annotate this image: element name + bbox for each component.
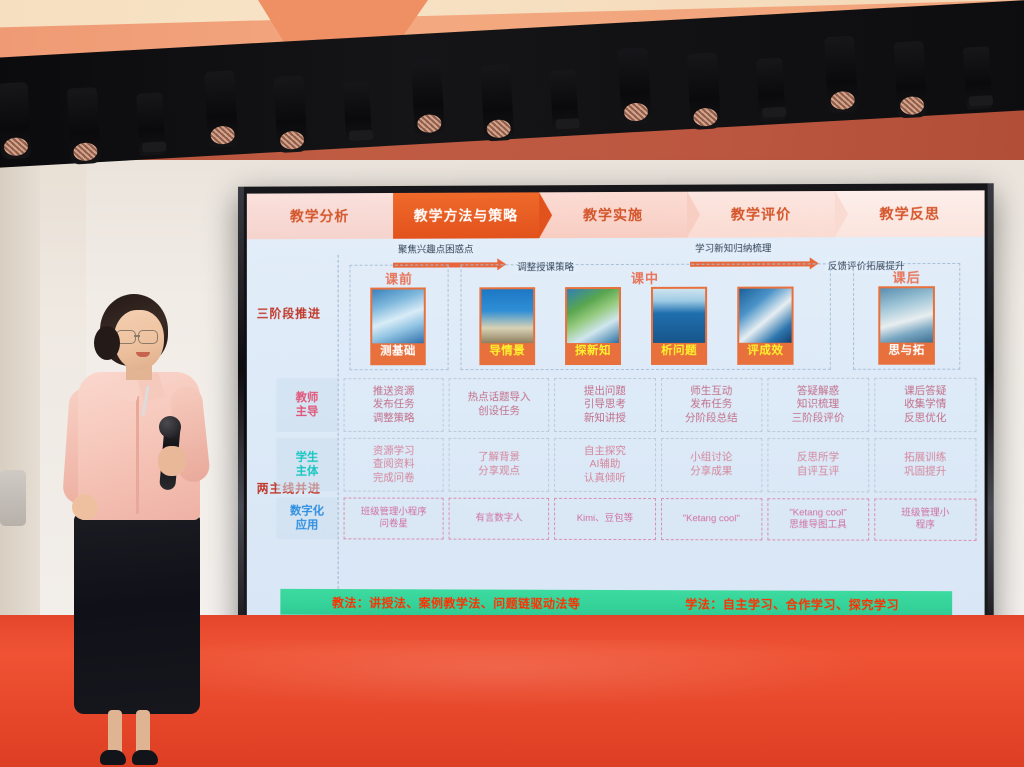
row-label-line: 数字化 — [290, 504, 324, 518]
cell-line: AI辅助 — [589, 458, 620, 472]
matrix-cell[interactable]: 班级管理小 程序 — [874, 498, 976, 540]
stage-card-ceji[interactable]: 测基础 — [370, 287, 425, 365]
cell-line: 自主探究 — [584, 445, 626, 459]
stage-light — [411, 59, 445, 137]
matrix-cell[interactable]: 资源学习 查阅资料 完成问卷 — [344, 438, 444, 492]
tab-label: 教学实施 — [583, 205, 643, 225]
row-label-digital: 数字化 应用 — [276, 497, 337, 539]
stage-scene: 教学分析 教学方法与策略 教学实施 教学评价 — [0, 0, 1024, 767]
cell-line: 师生互动 — [690, 384, 732, 398]
cell-line: 小组讨论 — [690, 451, 732, 465]
cell-line: Kimi、豆包等 — [577, 513, 633, 525]
stage-light — [894, 41, 928, 119]
stage-card-photo — [567, 289, 619, 343]
stage-light — [617, 47, 651, 125]
cell-line: 提出问题 — [584, 385, 626, 399]
cell-line: 巩固提升 — [904, 465, 947, 479]
cell-line: 分阶段总结 — [685, 412, 738, 426]
stage-card-photo — [372, 289, 424, 343]
row-cells: 推送资源 发布任务 调整策略 热点话题导入 创设任务 提出问题 — [338, 378, 977, 432]
learning-methods-text: 学法：自主学习、合作学习、探究学习 — [685, 595, 899, 613]
chair — [0, 470, 26, 526]
tab-teaching-methods[interactable]: 教学方法与策略 — [393, 192, 540, 238]
shoe-right — [132, 750, 158, 765]
row-label-line: 应用 — [296, 518, 319, 532]
stage-light — [550, 69, 579, 132]
matrix-cell[interactable]: 课后答疑 收集学情 反思优化 — [874, 378, 976, 432]
stage-light — [343, 81, 372, 144]
cell-line: "Ketang cool" — [789, 507, 846, 520]
bezel-right-highlight — [988, 183, 994, 646]
matrix-cell[interactable]: 自主探究 AI辅助 认真倾听 — [554, 438, 655, 492]
slide: 教学分析 教学方法与策略 教学实施 教学评价 — [247, 190, 985, 637]
row-cells: 班级管理小程序 问卷星 有言数字人 Kimi、豆包等 — [338, 498, 977, 541]
tab-teaching-reflection[interactable]: 教学反思 — [835, 190, 984, 237]
stage-card-caption: 导情景 — [481, 339, 533, 363]
stage-card-daoqingjing[interactable]: 导情景 — [479, 287, 535, 365]
shirt-placket — [136, 396, 139, 514]
cell-line: 有言数字人 — [475, 513, 522, 525]
projection-screen: 教学分析 教学方法与策略 教学实施 教学评价 — [247, 190, 985, 637]
stage-card-caption: 探新知 — [567, 339, 619, 363]
stage-card-photo — [481, 289, 533, 343]
tab-label: 教学评价 — [731, 204, 791, 224]
skirt — [74, 514, 200, 714]
stage-group-title: 课前 — [350, 268, 447, 287]
table-row: 数字化 应用 班级管理小程序 问卷星 有言数字人 — [276, 497, 976, 540]
cell-line: 答疑解惑 — [797, 384, 839, 398]
cell-line: 班级管理小程序 — [361, 506, 427, 518]
cell-line: 班级管理小 — [901, 507, 949, 520]
chevron-right-icon — [539, 192, 552, 238]
cell-line: 分享观点 — [478, 465, 520, 479]
row-label-teacher: 教师 主导 — [276, 378, 337, 432]
stage-card-photo — [739, 289, 791, 343]
stage-card-pingchengxiao[interactable]: 评成效 — [737, 287, 793, 365]
row-label-line: 主体 — [296, 465, 319, 479]
stage-light — [136, 92, 165, 155]
flow-label-above-1: 聚焦兴趣点困惑点 — [395, 240, 476, 256]
stage-card-photo — [653, 289, 705, 343]
matrix-cell[interactable]: 答疑解惑 知识梳理 三阶段评价 — [767, 378, 869, 432]
cell-line: 课后答疑 — [904, 384, 947, 398]
glasses-bridge-icon — [134, 335, 140, 337]
cell-line: 推送资源 — [373, 385, 415, 399]
matrix-cell[interactable]: 推送资源 发布任务 调整策略 — [344, 378, 444, 432]
stage-card-caption: 评成效 — [739, 339, 791, 363]
stage-card-caption: 测基础 — [372, 339, 424, 363]
stage-group-post: 课后 思与拓 — [853, 263, 960, 370]
cell-line: 反思优化 — [904, 412, 947, 426]
cell-line: 资源学习 — [373, 444, 415, 458]
stage-card-xiwenti[interactable]: 析问题 — [651, 287, 707, 365]
cell-line: 完成问卷 — [373, 472, 415, 486]
cell-line: 拓展训练 — [904, 452, 947, 466]
row-label-line: 主导 — [296, 405, 319, 419]
cell-line: "Ketang cool" — [683, 513, 740, 525]
cell-line: 自评互评 — [797, 465, 839, 479]
stage-light — [480, 64, 514, 142]
cell-line: 调整策略 — [373, 412, 415, 426]
stage-card-caption: 思与拓 — [880, 339, 933, 363]
cell-line: 了解背景 — [478, 451, 520, 465]
cell-line: 程序 — [916, 520, 935, 532]
microphone-head-icon — [159, 416, 181, 438]
stage-group-pre: 课前 测基础 — [349, 264, 448, 370]
methods-banner: 教法：讲授法、案例教学法、问题链驱动法等 学法：自主学习、合作学习、探究学习 — [280, 589, 952, 618]
wall-corner — [0, 150, 40, 630]
stage-card-photo — [880, 288, 933, 342]
matrix-cell[interactable]: 反思所学 自评互评 — [767, 438, 869, 492]
matrix-cell[interactable]: 有言数字人 — [449, 498, 550, 540]
cell-line: 认真倾听 — [584, 472, 626, 486]
stage-light — [824, 36, 858, 114]
tab-teaching-implementation[interactable]: 教学实施 — [539, 192, 687, 239]
tab-label: 教学分析 — [290, 206, 349, 226]
glasses-lens-right-icon — [138, 330, 158, 344]
cell-line: 问卷星 — [380, 519, 408, 531]
cell-line: 收集学情 — [904, 398, 947, 412]
matrix-cell[interactable]: 拓展训练 巩固提升 — [874, 438, 976, 492]
tab-teaching-evaluation[interactable]: 教学评价 — [687, 191, 835, 238]
cell-line: 发布任务 — [690, 398, 732, 412]
cell-line: 发布任务 — [373, 398, 415, 412]
shoe-left — [100, 750, 126, 765]
stage-card-siyutuo[interactable]: 思与拓 — [878, 286, 935, 365]
row-label-line: 学生 — [296, 450, 319, 464]
chevron-right-icon — [835, 191, 848, 237]
cell-line: 三阶段评价 — [792, 412, 845, 426]
hand-left — [72, 494, 98, 520]
table-row: 教师 主导 推送资源 发布任务 调整策略 热点话题导入 — [276, 378, 976, 432]
strategy-matrix: 教师 主导 推送资源 发布任务 调整策略 热点话题导入 — [276, 378, 976, 547]
stage-group-title: 课后 — [854, 267, 959, 286]
table-row: 学生 主体 资源学习 查阅资料 完成问卷 了解背景 — [276, 438, 976, 493]
cell-line: 思维导图工具 — [789, 519, 846, 532]
stage-cards: 课前 测基础 课中 导情景 — [349, 263, 976, 368]
stage-group-title: 课中 — [462, 267, 830, 287]
stage-group-during: 课中 导情景 探新知 析问题 — [461, 263, 831, 370]
hair-bun — [94, 326, 120, 360]
row-label-line: 教师 — [296, 391, 319, 405]
projection-screen-bezel: 教学分析 教学方法与策略 教学实施 教学评价 — [238, 183, 994, 646]
matrix-cell[interactable]: 师生互动 发布任务 分阶段总结 — [661, 378, 763, 432]
stage-light — [67, 87, 101, 165]
tab-teaching-analysis[interactable]: 教学分析 — [247, 193, 393, 239]
stage-light — [204, 70, 238, 148]
tab-label: 教学反思 — [879, 204, 940, 224]
stage-light — [687, 52, 721, 130]
cell-line: 新知讲授 — [584, 412, 626, 426]
row-cells: 资源学习 查阅资料 完成问卷 了解背景 分享观点 自主探究 — [338, 438, 977, 493]
slide-tabbar: 教学分析 教学方法与策略 教学实施 教学评价 — [247, 190, 985, 239]
hand-right — [158, 446, 186, 476]
matrix-cell[interactable]: "Ketang cool" — [661, 498, 763, 540]
matrix-cell[interactable]: 热点话题导入 创设任务 — [449, 378, 550, 432]
matrix-cell[interactable]: 提出问题 引导思考 新知讲授 — [554, 378, 655, 432]
cell-line: 分享成果 — [690, 465, 732, 479]
stage-card-tanxinzhi[interactable]: 探新知 — [565, 287, 621, 365]
matrix-cell[interactable]: 班级管理小程序 问卷星 — [344, 498, 444, 540]
stage-light — [0, 82, 32, 160]
cell-line: 反思所学 — [797, 451, 839, 465]
cell-line: 热点话题导入 — [468, 391, 531, 405]
stage-light — [963, 46, 992, 109]
chevron-right-icon — [687, 192, 700, 238]
cell-line: 引导思考 — [584, 398, 626, 412]
teaching-methods-text: 教法：讲授法、案例教学法、问题链驱动法等 — [332, 593, 580, 611]
matrix-cell[interactable]: Kimi、豆包等 — [554, 498, 655, 540]
presenter — [60, 270, 250, 767]
tab-label: 教学方法与策略 — [414, 205, 518, 225]
cell-line: 知识梳理 — [797, 398, 839, 412]
rail-label-three-stages: 三阶段推进 — [257, 305, 321, 322]
cell-line: 查阅资料 — [373, 458, 415, 472]
stage-card-caption: 析问题 — [653, 339, 705, 363]
matrix-cell[interactable]: "Ketang cool" 思维导图工具 — [767, 498, 869, 540]
row-label-student: 学生 主体 — [276, 438, 337, 492]
matrix-cell[interactable]: 了解背景 分享观点 — [449, 438, 550, 492]
slide-body: 聚焦兴趣点困惑点 调整授课策略 学习新知归纳梳理 反馈评价拓展提升 三阶段推进 … — [247, 237, 985, 638]
matrix-cell[interactable]: 小组讨论 分享成果 — [661, 438, 763, 492]
stage-light — [756, 58, 785, 121]
cell-line: 创设任务 — [478, 405, 520, 419]
stage-light — [274, 76, 308, 154]
flow-label-above-2: 学习新知归纳梳理 — [692, 239, 774, 255]
